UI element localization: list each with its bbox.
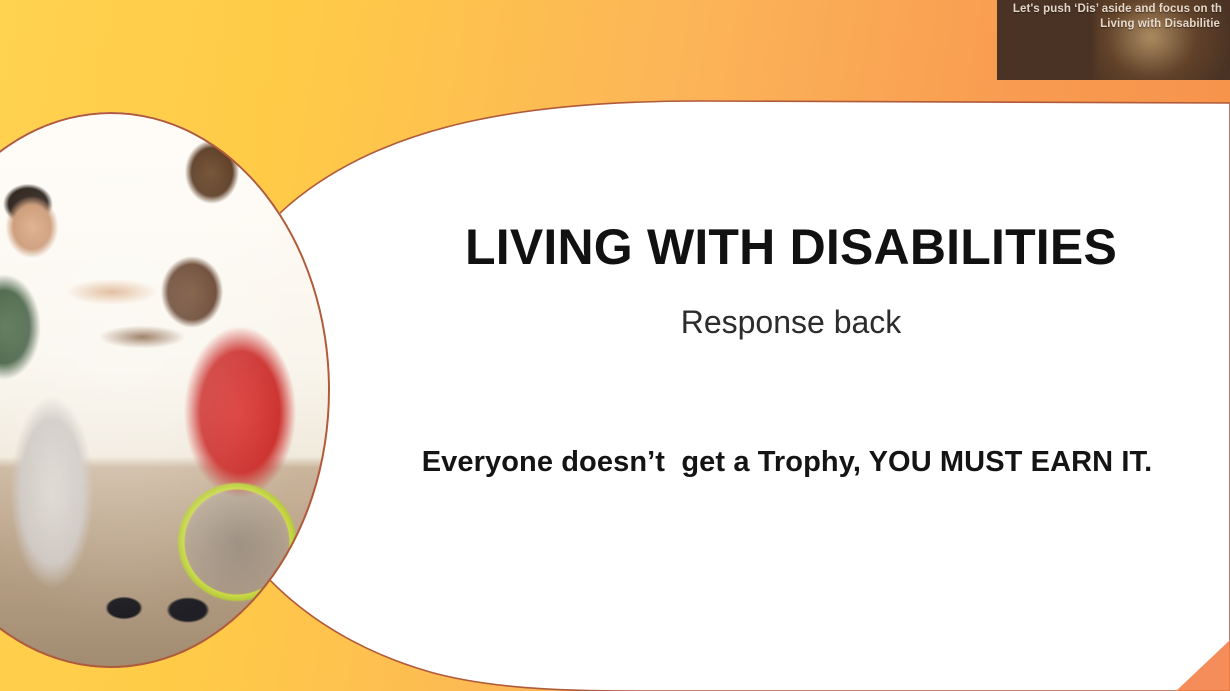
overlay-caption-line-1: Let's push ‘Dis’ aside and focus on th xyxy=(997,2,1222,17)
page-title: LIVING WITH DISABILITIES xyxy=(330,221,1230,274)
body-statement: Everyone doesn’t get a Trophy, YOU MUST … xyxy=(330,446,1230,479)
slide-canvas: Let's push ‘Dis’ aside and focus on th L… xyxy=(0,0,1230,691)
overlay-caption-line-2: Living with Disabilitie xyxy=(997,17,1222,32)
overlay-caption: Let's push ‘Dis’ aside and focus on th L… xyxy=(997,2,1222,32)
page-subtitle: Response back xyxy=(330,304,1230,341)
photo-highlight xyxy=(0,112,330,668)
text-column: LIVING WITH DISABILITIES Response back E… xyxy=(330,0,1230,691)
thumbnail-overlay: Let's push ‘Dis’ aside and focus on th L… xyxy=(997,0,1230,80)
photo-oval xyxy=(0,112,330,668)
